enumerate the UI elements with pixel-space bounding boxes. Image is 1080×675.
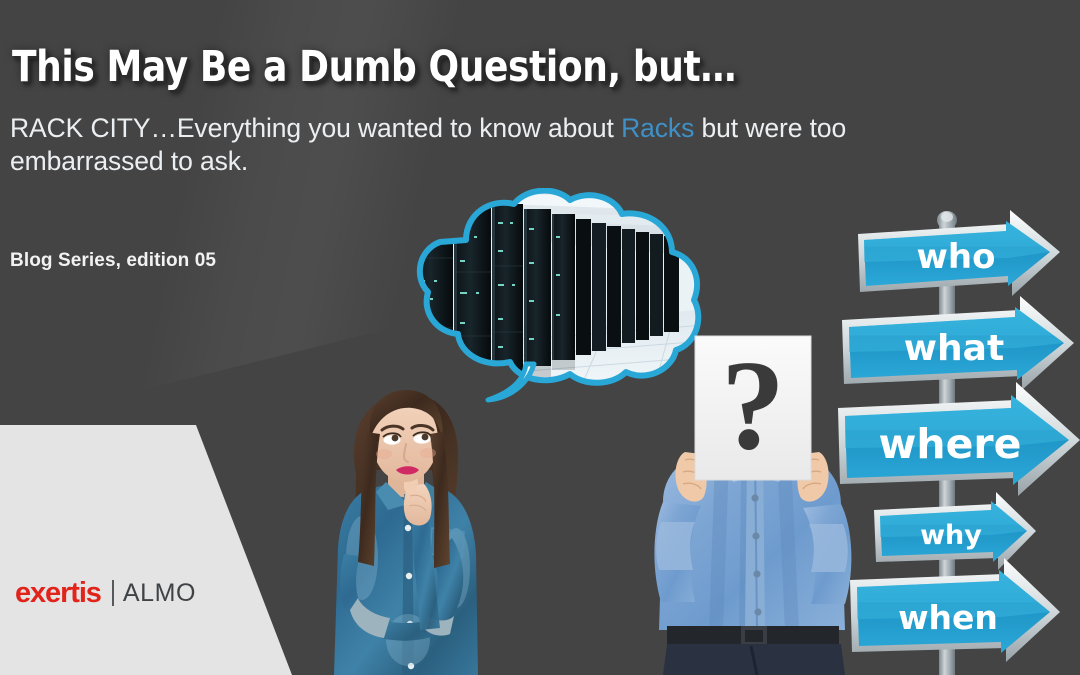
page-title: This May Be a Dumb Question, but… bbox=[12, 42, 736, 92]
signpost-svg: who what where why bbox=[838, 200, 1080, 675]
logo-divider bbox=[112, 580, 114, 606]
woman-illustration bbox=[300, 378, 510, 675]
arrow-label-what: what bbox=[904, 328, 1004, 369]
logo-primary-text: exertis bbox=[15, 579, 101, 608]
man-cuff-left bbox=[656, 522, 695, 570]
question-sign: ? bbox=[695, 334, 811, 480]
logo-secondary-text: ALMO bbox=[123, 581, 196, 606]
arrow-label-when: when bbox=[898, 598, 998, 637]
exertis-almo-logo[interactable]: exertis ALMO bbox=[15, 578, 196, 608]
signpost-arrow-where[interactable]: where bbox=[838, 382, 1080, 496]
subheading-before: RACK CITY…Everything you wanted to know … bbox=[10, 113, 621, 143]
edition-label: Blog Series, edition 05 bbox=[10, 250, 216, 272]
arrow-label-why: why bbox=[920, 520, 982, 551]
arrow-label-who: who bbox=[917, 237, 996, 277]
man-illustration: ? bbox=[645, 330, 860, 675]
question-mark-glyph: ? bbox=[721, 334, 785, 476]
arrow-label-where: where bbox=[879, 420, 1022, 468]
subheading: RACK CITY…Everything you wanted to know … bbox=[10, 112, 910, 178]
thinking-woman bbox=[300, 378, 510, 675]
directional-signpost: who what where why bbox=[838, 200, 1080, 675]
man-holding-question-sign: ? bbox=[645, 330, 860, 675]
signpost-arrow-who[interactable]: who bbox=[858, 210, 1060, 296]
blog-banner: ? bbox=[0, 0, 1080, 675]
signpost-arrow-what[interactable]: what bbox=[842, 296, 1074, 390]
subheading-accent: Racks bbox=[621, 113, 694, 143]
